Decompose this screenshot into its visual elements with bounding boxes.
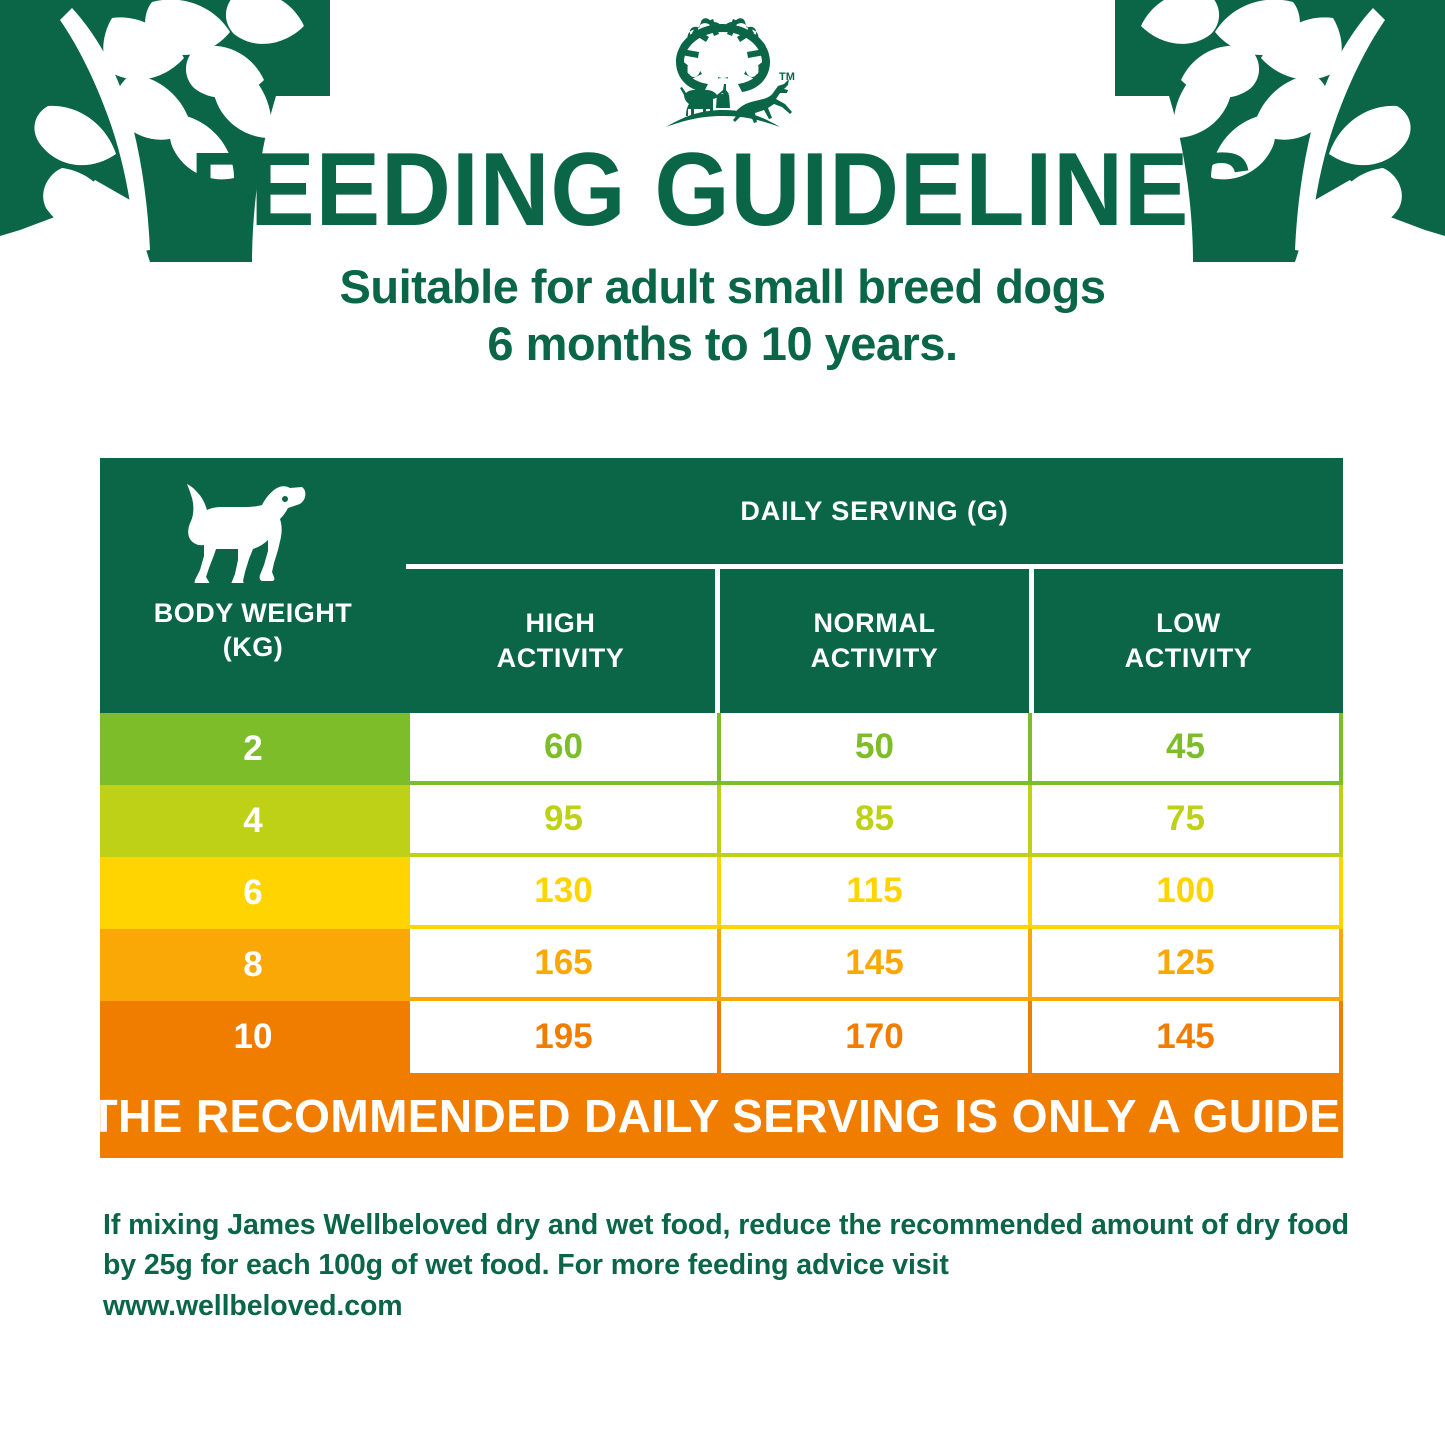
footer-website-url[interactable]: www.wellbeloved.com xyxy=(103,1286,1349,1326)
body-weight-header-label: BODY WEIGHT (KG) xyxy=(154,597,353,665)
serving-cells: 195170145 xyxy=(406,1001,1343,1073)
table-row: 2605045 xyxy=(100,713,1343,785)
activity-header-row: HIGH ACTIVITY NORMAL ACTIVITY LOW ACTIVI… xyxy=(406,569,1343,713)
serving-cell-high: 95 xyxy=(406,785,721,857)
serving-cells: 165145125 xyxy=(406,929,1343,1001)
serving-cell-low: 45 xyxy=(1032,713,1343,785)
table-row: 8165145125 xyxy=(100,929,1343,1001)
serving-cell-high: 195 xyxy=(406,1001,721,1073)
table-row: 4958575 xyxy=(100,785,1343,857)
activity-header-high: HIGH ACTIVITY xyxy=(406,569,720,713)
serving-cells: 130115100 xyxy=(406,857,1343,929)
activity-header-high-line-1: HIGH xyxy=(497,606,625,641)
serving-cell-normal: 85 xyxy=(721,785,1032,857)
table-body: 2605045495857561301151008165145125101951… xyxy=(100,713,1343,1073)
serving-cell-normal: 50 xyxy=(721,713,1032,785)
activity-header-normal: NORMAL ACTIVITY xyxy=(720,569,1034,713)
feeding-guidelines-table: BODY WEIGHT (KG) DAILY SERVING (G) HIGH … xyxy=(100,458,1343,1158)
activity-header-low-line-1: LOW xyxy=(1125,606,1253,641)
activity-header-low-line-2: ACTIVITY xyxy=(1125,641,1253,676)
daily-serving-header: DAILY SERVING (G) xyxy=(406,458,1343,569)
subtitle-line-1: Suitable for adult small breed dogs xyxy=(0,258,1445,315)
serving-cell-normal: 170 xyxy=(721,1001,1032,1073)
serving-cell-low: 100 xyxy=(1032,857,1343,929)
activity-header-normal-line-2: ACTIVITY xyxy=(811,641,939,676)
body-weight-cell: 4 xyxy=(100,785,406,857)
footer-note-text: If mixing James Wellbeloved dry and wet … xyxy=(103,1209,1349,1281)
body-weight-header-cell: BODY WEIGHT (KG) xyxy=(100,458,406,713)
activity-header-high-line-2: ACTIVITY xyxy=(497,641,625,676)
body-weight-header-line-1: BODY WEIGHT xyxy=(154,597,353,631)
body-weight-cell: 10 xyxy=(100,1001,406,1073)
serving-header-group: DAILY SERVING (G) HIGH ACTIVITY NORMAL A… xyxy=(406,458,1343,713)
body-weight-cell: 2 xyxy=(100,713,406,785)
serving-cell-normal: 145 xyxy=(721,929,1032,1001)
serving-cell-high: 165 xyxy=(406,929,721,1001)
activity-header-normal-line-1: NORMAL xyxy=(811,606,939,641)
activity-header-low: LOW ACTIVITY xyxy=(1034,569,1343,713)
serving-cell-low: 125 xyxy=(1032,929,1343,1001)
table-row: 6130115100 xyxy=(100,857,1343,929)
serving-cell-high: 60 xyxy=(406,713,721,785)
page-header: TM FEEDING GUIDELINES Suitable for adult… xyxy=(0,0,1445,372)
page-subtitle: Suitable for adult small breed dogs 6 mo… xyxy=(0,258,1445,373)
serving-cell-low: 75 xyxy=(1032,785,1343,857)
tree-with-paw-logo-icon: TM xyxy=(648,18,798,133)
serving-cell-normal: 115 xyxy=(721,857,1032,929)
guide-disclaimer-banner: THE RECOMMENDED DAILY SERVING IS ONLY A … xyxy=(100,1073,1343,1158)
body-weight-cell: 6 xyxy=(100,857,406,929)
serving-cells: 958575 xyxy=(406,785,1343,857)
trademark-symbol: TM xyxy=(779,71,795,83)
table-row: 10195170145 xyxy=(100,1001,1343,1073)
body-weight-header-line-2: (KG) xyxy=(154,631,353,665)
footer-note: If mixing James Wellbeloved dry and wet … xyxy=(103,1205,1349,1326)
subtitle-line-2: 6 months to 10 years. xyxy=(0,315,1445,372)
serving-cell-low: 145 xyxy=(1032,1001,1343,1073)
brand-logo: TM xyxy=(0,0,1445,133)
serving-cells: 605045 xyxy=(406,713,1343,785)
body-weight-cell: 8 xyxy=(100,929,406,1001)
dog-silhouette-icon xyxy=(187,480,320,583)
page-title: FEEDING GUIDELINES xyxy=(51,141,1395,240)
serving-cell-high: 130 xyxy=(406,857,721,929)
table-header: BODY WEIGHT (KG) DAILY SERVING (G) HIGH … xyxy=(100,458,1343,713)
